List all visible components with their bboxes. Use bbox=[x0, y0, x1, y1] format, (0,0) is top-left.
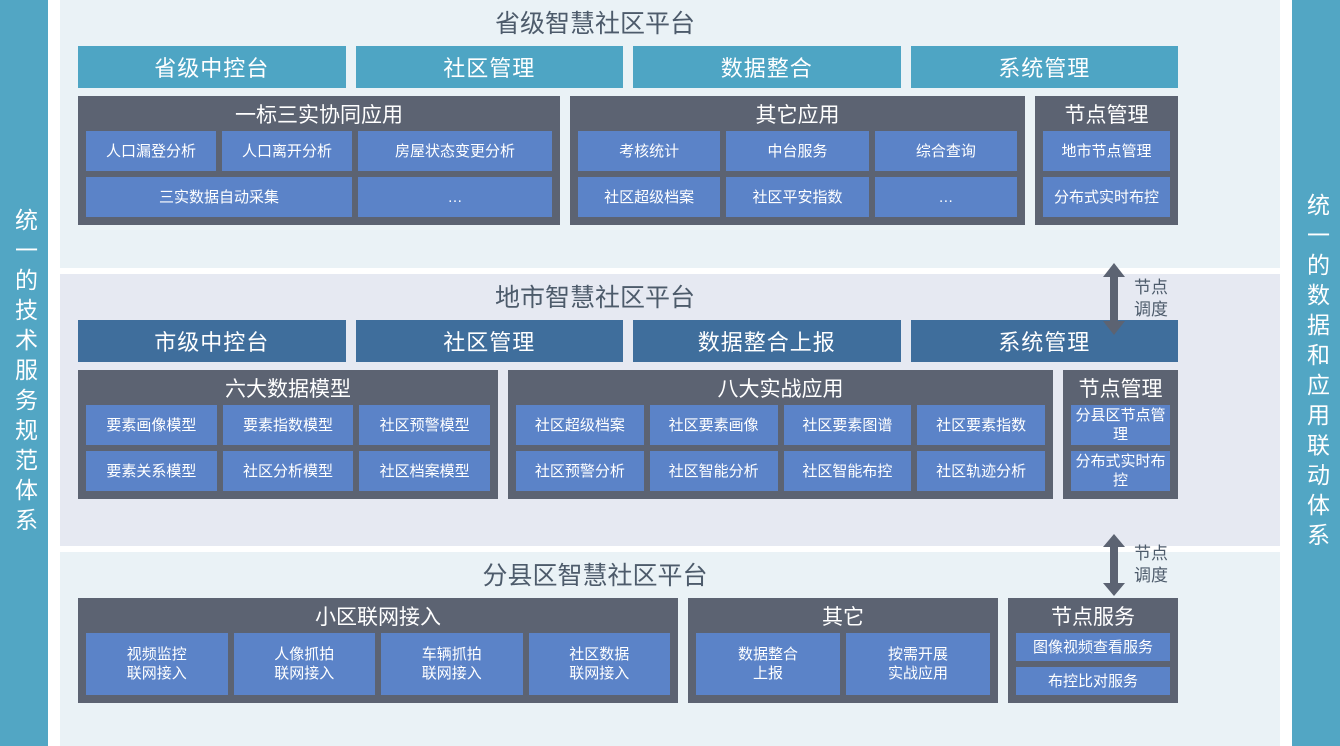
tile-row: 社区超级档案 社区平安指数 … bbox=[578, 177, 1017, 217]
tile-image-video-view-service[interactable]: 图像视频查看服务 bbox=[1016, 633, 1170, 661]
tile-community-data-access[interactable]: 社区数据 联网接入 bbox=[529, 633, 671, 695]
group-node-service: 节点服务 图像视频查看服务 布控比对服务 bbox=[1008, 598, 1178, 703]
group-title-node-service: 节点服务 bbox=[1016, 603, 1170, 633]
left-gap bbox=[48, 0, 60, 746]
group-six-data-models: 六大数据模型 要素画像模型 要素指数模型 社区预警模型 要素关系模型 社区分析模… bbox=[78, 370, 498, 499]
group-title-six-models: 六大数据模型 bbox=[86, 375, 490, 405]
right-rail-label: 统一的数据和应用联动体系 bbox=[1305, 193, 1328, 553]
tile-row: 考核统计 中台服务 综合查询 bbox=[578, 131, 1017, 171]
group-title-eight-apps: 八大实战应用 bbox=[516, 375, 1045, 405]
nav-city-community[interactable]: 社区管理 bbox=[356, 320, 624, 362]
tile-element-portrait-model[interactable]: 要素画像模型 bbox=[86, 405, 217, 445]
section-title-province: 省级智慧社区平台 bbox=[78, 8, 1262, 40]
section-province: 省级智慧社区平台 省级中控台 社区管理 数据整合 系统管理 一标三实协同应用 人… bbox=[60, 0, 1280, 268]
group-title-yibiao: 一标三实协同应用 bbox=[86, 101, 552, 131]
node-dispatch-arrow-1: 节点 调度 bbox=[1102, 263, 1168, 335]
node-dispatch-label-1: 节点 调度 bbox=[1134, 277, 1168, 321]
tile-row: 分布式实时布控 bbox=[1071, 451, 1170, 491]
node-dispatch-arrow-2: 节点 调度 bbox=[1102, 534, 1168, 596]
tile-community-smart-control[interactable]: 社区智能布控 bbox=[784, 451, 912, 491]
tile-row: 人口漏登分析 人口离开分析 房屋状态变更分析 bbox=[86, 131, 552, 171]
left-rail: 统一的技术服务规范体系 bbox=[0, 0, 48, 746]
tile-distributed-realtime-control[interactable]: 分布式实时布控 bbox=[1071, 451, 1170, 491]
tile-vehicle-capture-access[interactable]: 车辆抓拍 联网接入 bbox=[381, 633, 523, 695]
group-other-county: 其它 数据整合 上报 按需开展 实战应用 bbox=[688, 598, 998, 703]
tile-assessment-stats[interactable]: 考核统计 bbox=[578, 131, 720, 171]
nav-province-community[interactable]: 社区管理 bbox=[356, 46, 624, 88]
tile-on-demand-applications[interactable]: 按需开展 实战应用 bbox=[846, 633, 990, 695]
tile-community-smart-analysis[interactable]: 社区智能分析 bbox=[650, 451, 778, 491]
section-city: 地市智慧社区平台 市级中控台 社区管理 数据整合上报 系统管理 六大数据模型 要… bbox=[60, 274, 1280, 546]
double-arrow-icon bbox=[1102, 534, 1126, 596]
group-eight-applications: 八大实战应用 社区超级档案 社区要素画像 社区要素图谱 社区要素指数 社区预警分… bbox=[508, 370, 1053, 499]
tile-row: 数据整合 上报 按需开展 实战应用 bbox=[696, 633, 990, 695]
tile-data-integration-report[interactable]: 数据整合 上报 bbox=[696, 633, 840, 695]
tile-community-element-portrait[interactable]: 社区要素画像 bbox=[650, 405, 778, 445]
tile-county-node-management[interactable]: 分县区节点管理 bbox=[1071, 405, 1170, 445]
tile-midend-service[interactable]: 中台服务 bbox=[726, 131, 868, 171]
tile-grid-node-service: 图像视频查看服务 布控比对服务 bbox=[1016, 633, 1170, 695]
nav-row-province: 省级中控台 社区管理 数据整合 系统管理 bbox=[78, 46, 1262, 88]
tile-row: 分布式实时布控 bbox=[1043, 177, 1170, 217]
group-yibiao-sanshi: 一标三实协同应用 人口漏登分析 人口离开分析 房屋状态变更分析 三实数据自动采集… bbox=[78, 96, 560, 225]
tile-more-ellipsis[interactable]: … bbox=[358, 177, 552, 217]
group-other-apps: 其它应用 考核统计 中台服务 综合查询 社区超级档案 社区平安指数 … bbox=[570, 96, 1025, 225]
tile-city-node-management[interactable]: 地市节点管理 bbox=[1043, 131, 1170, 171]
tile-grid-eight-apps: 社区超级档案 社区要素画像 社区要素图谱 社区要素指数 社区预警分析 社区智能分… bbox=[516, 405, 1045, 491]
nav-province-console[interactable]: 省级中控台 bbox=[78, 46, 346, 88]
tile-grid-other-apps: 考核统计 中台服务 综合查询 社区超级档案 社区平安指数 … bbox=[578, 131, 1017, 217]
tile-more-ellipsis[interactable]: … bbox=[875, 177, 1017, 217]
right-rail: 统一的数据和应用联动体系 bbox=[1292, 0, 1340, 746]
tile-grid-six-models: 要素画像模型 要素指数模型 社区预警模型 要素关系模型 社区分析模型 社区档案模… bbox=[86, 405, 490, 491]
section-title-city: 地市智慧社区平台 bbox=[78, 282, 1262, 314]
tile-element-index-model[interactable]: 要素指数模型 bbox=[223, 405, 354, 445]
nav-row-city: 市级中控台 社区管理 数据整合上报 系统管理 bbox=[78, 320, 1262, 362]
group-title-network-access: 小区联网接入 bbox=[86, 603, 670, 633]
tile-face-capture-access[interactable]: 人像抓拍 联网接入 bbox=[234, 633, 376, 695]
tile-grid-network-access: 视频监控 联网接入 人像抓拍 联网接入 车辆抓拍 联网接入 社区数据 联网接入 bbox=[86, 633, 670, 695]
tile-row: 三实数据自动采集 … bbox=[86, 177, 552, 217]
group-title-other-county: 其它 bbox=[696, 603, 990, 633]
center-stack: 省级智慧社区平台 省级中控台 社区管理 数据整合 系统管理 一标三实协同应用 人… bbox=[60, 0, 1280, 746]
tile-community-safety-index[interactable]: 社区平安指数 bbox=[726, 177, 868, 217]
tile-community-archive-model[interactable]: 社区档案模型 bbox=[359, 451, 490, 491]
right-gap bbox=[1280, 0, 1292, 746]
tile-community-super-archive[interactable]: 社区超级档案 bbox=[578, 177, 720, 217]
node-dispatch-label-2: 节点 调度 bbox=[1134, 543, 1168, 587]
section-title-county: 分县区智慧社区平台 bbox=[78, 560, 1262, 592]
tile-population-missing[interactable]: 人口漏登分析 bbox=[86, 131, 216, 171]
tile-grid-node-management: 分县区节点管理 分布式实时布控 bbox=[1071, 405, 1170, 491]
tile-house-status-change[interactable]: 房屋状态变更分析 bbox=[358, 131, 552, 171]
tile-community-warning-model[interactable]: 社区预警模型 bbox=[359, 405, 490, 445]
group-title-node-management: 节点管理 bbox=[1043, 101, 1170, 131]
group-node-management-province: 节点管理 地市节点管理 分布式实时布控 bbox=[1035, 96, 1178, 225]
group-title-other-apps: 其它应用 bbox=[578, 101, 1017, 131]
left-rail-label: 统一的技术服务规范体系 bbox=[13, 208, 36, 538]
tile-grid-node-management: 地市节点管理 分布式实时布控 bbox=[1043, 131, 1170, 217]
tile-video-surveillance-access[interactable]: 视频监控 联网接入 bbox=[86, 633, 228, 695]
tile-element-relation-model[interactable]: 要素关系模型 bbox=[86, 451, 217, 491]
tile-grid-other-county: 数据整合 上报 按需开展 实战应用 bbox=[696, 633, 990, 695]
tile-row: 社区预警分析 社区智能分析 社区智能布控 社区轨迹分析 bbox=[516, 451, 1045, 491]
group-title-node-management: 节点管理 bbox=[1071, 375, 1170, 405]
tile-grid-yibiao: 人口漏登分析 人口离开分析 房屋状态变更分析 三实数据自动采集 … bbox=[86, 131, 552, 217]
tile-row: 社区超级档案 社区要素画像 社区要素图谱 社区要素指数 bbox=[516, 405, 1045, 445]
tile-row: 要素关系模型 社区分析模型 社区档案模型 bbox=[86, 451, 490, 491]
tile-row: 地市节点管理 bbox=[1043, 131, 1170, 171]
section-county: 分县区智慧社区平台 小区联网接入 视频监控 联网接入 人像抓拍 联网接入 车辆抓… bbox=[60, 552, 1280, 746]
nav-province-system[interactable]: 系统管理 bbox=[911, 46, 1179, 88]
tile-row: 视频监控 联网接入 人像抓拍 联网接入 车辆抓拍 联网接入 社区数据 联网接入 bbox=[86, 633, 670, 695]
tile-distributed-realtime-control[interactable]: 分布式实时布控 bbox=[1043, 177, 1170, 217]
group-community-network-access: 小区联网接入 视频监控 联网接入 人像抓拍 联网接入 车辆抓拍 联网接入 社区数… bbox=[78, 598, 678, 703]
group-node-management-city: 节点管理 分县区节点管理 分布式实时布控 bbox=[1063, 370, 1178, 499]
tile-community-super-archive[interactable]: 社区超级档案 bbox=[516, 405, 644, 445]
tile-community-track-analysis[interactable]: 社区轨迹分析 bbox=[917, 451, 1045, 491]
tile-comprehensive-query[interactable]: 综合查询 bbox=[875, 131, 1017, 171]
tile-population-leave[interactable]: 人口离开分析 bbox=[222, 131, 352, 171]
tile-sanshi-auto-collect[interactable]: 三实数据自动采集 bbox=[86, 177, 352, 217]
double-arrow-icon bbox=[1102, 263, 1126, 335]
tile-community-element-graph[interactable]: 社区要素图谱 bbox=[784, 405, 912, 445]
tile-community-analysis-model[interactable]: 社区分析模型 bbox=[223, 451, 354, 491]
tile-community-element-index[interactable]: 社区要素指数 bbox=[917, 405, 1045, 445]
tile-row: 图像视频查看服务 bbox=[1016, 633, 1170, 661]
group-row-city: 六大数据模型 要素画像模型 要素指数模型 社区预警模型 要素关系模型 社区分析模… bbox=[78, 370, 1262, 499]
tile-row: 布控比对服务 bbox=[1016, 667, 1170, 695]
nav-province-data[interactable]: 数据整合 bbox=[633, 46, 901, 88]
nav-city-data-report[interactable]: 数据整合上报 bbox=[633, 320, 901, 362]
tile-control-comparison-service[interactable]: 布控比对服务 bbox=[1016, 667, 1170, 695]
tile-row: 要素画像模型 要素指数模型 社区预警模型 bbox=[86, 405, 490, 445]
group-row-province: 一标三实协同应用 人口漏登分析 人口离开分析 房屋状态变更分析 三实数据自动采集… bbox=[78, 96, 1262, 225]
nav-city-console[interactable]: 市级中控台 bbox=[78, 320, 346, 362]
architecture-diagram: 统一的技术服务规范体系 省级智慧社区平台 省级中控台 社区管理 数据整合 系统管… bbox=[0, 0, 1340, 746]
tile-row: 分县区节点管理 bbox=[1071, 405, 1170, 445]
tile-community-warning-analysis[interactable]: 社区预警分析 bbox=[516, 451, 644, 491]
group-row-county: 小区联网接入 视频监控 联网接入 人像抓拍 联网接入 车辆抓拍 联网接入 社区数… bbox=[78, 598, 1262, 703]
